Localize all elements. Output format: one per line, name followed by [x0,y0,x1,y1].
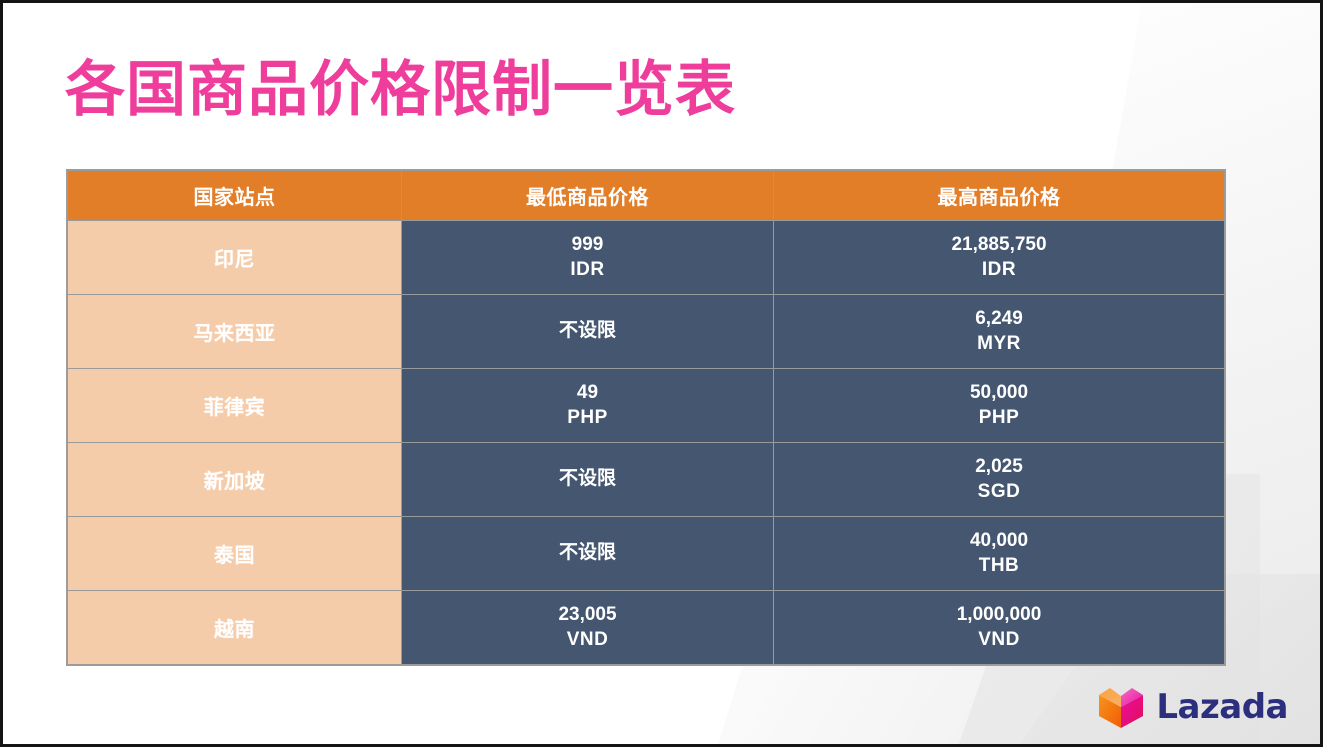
lazada-logo: Lazada [1098,686,1288,728]
column-header-max-price: 最高商品价格 [774,171,1225,221]
lazada-wordmark: Lazada [1156,687,1288,727]
slide-canvas: 各国商品价格限制一览表 国家站点 最低商品价格 最高商品价格 印尼999IDR2… [0,0,1323,747]
cell-country: 菲律宾 [68,369,402,443]
cell-country: 新加坡 [68,443,402,517]
cell-min-price-amount: 23,005 [402,603,773,628]
column-header-country: 国家站点 [68,171,402,221]
cell-max-price-amount: 2,025 [774,455,1224,480]
cell-country: 马来西亚 [68,295,402,369]
table-row: 菲律宾49PHP50,000PHP [68,369,1225,443]
cell-country: 泰国 [68,517,402,591]
cell-max-price-amount: 50,000 [774,381,1224,406]
cell-country: 印尼 [68,221,402,295]
cell-max-price-amount: 21,885,750 [774,233,1224,258]
cell-max-price: 6,249MYR [774,295,1225,369]
cell-min-price-amount: 999 [402,233,773,258]
cell-min-price-amount: 不设限 [402,319,773,344]
cell-max-price-currency: IDR [774,258,1224,283]
cell-max-price-currency: THB [774,554,1224,579]
table-row: 泰国不设限40,000THB [68,517,1225,591]
table-row: 新加坡不设限2,025SGD [68,443,1225,517]
cell-max-price-amount: 40,000 [774,529,1224,554]
cell-max-price: 21,885,750IDR [774,221,1225,295]
table-body: 印尼999IDR21,885,750IDR马来西亚不设限6,249MYR菲律宾4… [68,221,1225,665]
cell-max-price: 50,000PHP [774,369,1225,443]
column-header-min-price: 最低商品价格 [402,171,774,221]
cell-min-price-amount: 不设限 [402,541,773,566]
cell-min-price-amount: 不设限 [402,467,773,492]
table-header: 国家站点 最低商品价格 最高商品价格 [68,171,1225,221]
cell-max-price: 2,025SGD [774,443,1225,517]
cell-min-price: 49PHP [402,369,774,443]
cell-max-price-currency: SGD [774,480,1224,505]
price-limits-table: 国家站点 最低商品价格 最高商品价格 印尼999IDR21,885,750IDR… [67,170,1225,665]
cell-max-price: 40,000THB [774,517,1225,591]
cell-max-price-currency: MYR [774,332,1224,357]
cell-min-price: 23,005VND [402,591,774,665]
cell-min-price: 不设限 [402,295,774,369]
cell-max-price-currency: VND [774,628,1224,653]
cell-min-price-amount: 49 [402,381,773,406]
cell-min-price-currency: PHP [402,406,773,431]
cell-max-price: 1,000,000VND [774,591,1225,665]
cell-max-price-currency: PHP [774,406,1224,431]
cell-min-price: 不设限 [402,517,774,591]
table-header-row: 国家站点 最低商品价格 最高商品价格 [68,171,1225,221]
table-row: 越南23,005VND1,000,000VND [68,591,1225,665]
lazada-heart-box-icon [1098,686,1144,728]
table-row: 马来西亚不设限6,249MYR [68,295,1225,369]
page-title: 各国商品价格限制一览表 [65,59,736,122]
cell-max-price-amount: 1,000,000 [774,603,1224,628]
cell-min-price-currency: VND [402,628,773,653]
cell-min-price: 999IDR [402,221,774,295]
cell-min-price-currency: IDR [402,258,773,283]
cell-max-price-amount: 6,249 [774,307,1224,332]
table-row: 印尼999IDR21,885,750IDR [68,221,1225,295]
cell-country: 越南 [68,591,402,665]
cell-min-price: 不设限 [402,443,774,517]
